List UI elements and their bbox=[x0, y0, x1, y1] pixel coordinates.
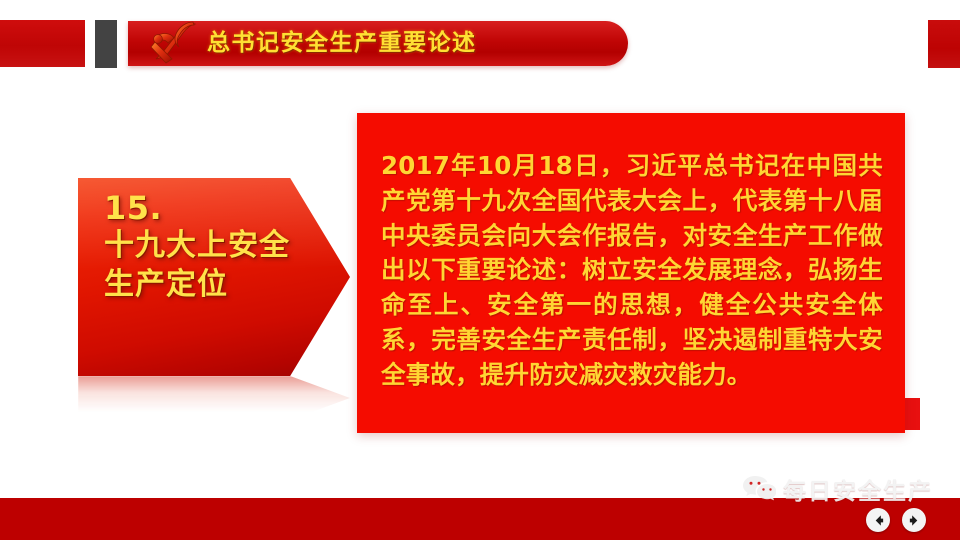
decor-block-top-left bbox=[0, 20, 85, 67]
navigation-buttons bbox=[866, 508, 926, 532]
decor-bar-dark bbox=[95, 20, 117, 68]
decor-block-top-right bbox=[928, 20, 960, 68]
callout-number: 15. bbox=[104, 190, 314, 227]
watermark: 每日安全生产 bbox=[742, 472, 933, 506]
callout-line-2: 生产定位 bbox=[104, 266, 314, 304]
page-title: 总书记安全生产重要论述 bbox=[207, 20, 477, 66]
next-slide-button[interactable] bbox=[902, 508, 926, 532]
watermark-text: 每日安全生产 bbox=[783, 472, 933, 506]
arrow-right-icon bbox=[908, 514, 921, 527]
main-content-inner: 2017年10月18日，习近平总书记在中国共产党第十九次全国代表大会上，代表第十… bbox=[357, 113, 905, 410]
callout-text: 15. 十九大上安全 生产定位 bbox=[104, 190, 314, 304]
callout-line-1: 十九大上安全 bbox=[104, 227, 314, 265]
callout-reflection bbox=[78, 376, 350, 420]
wechat-icon bbox=[742, 474, 776, 504]
ccp-party-emblem-icon bbox=[146, 12, 208, 70]
main-paragraph: 2017年10月18日，习近平总书记在中国共产党第十九次全国代表大会上，代表第十… bbox=[381, 149, 883, 392]
main-content-panel: 2017年10月18日，习近平总书记在中国共产党第十九次全国代表大会上，代表第十… bbox=[357, 113, 905, 433]
arrow-left-icon bbox=[872, 514, 885, 527]
section-callout-arrow: 15. 十九大上安全 生产定位 bbox=[78, 178, 350, 376]
slide-root: 总书记安全生产重要论述 15. 十九大上安全 生产定位 2017年10月18日，… bbox=[0, 0, 960, 540]
prev-slide-button[interactable] bbox=[866, 508, 890, 532]
